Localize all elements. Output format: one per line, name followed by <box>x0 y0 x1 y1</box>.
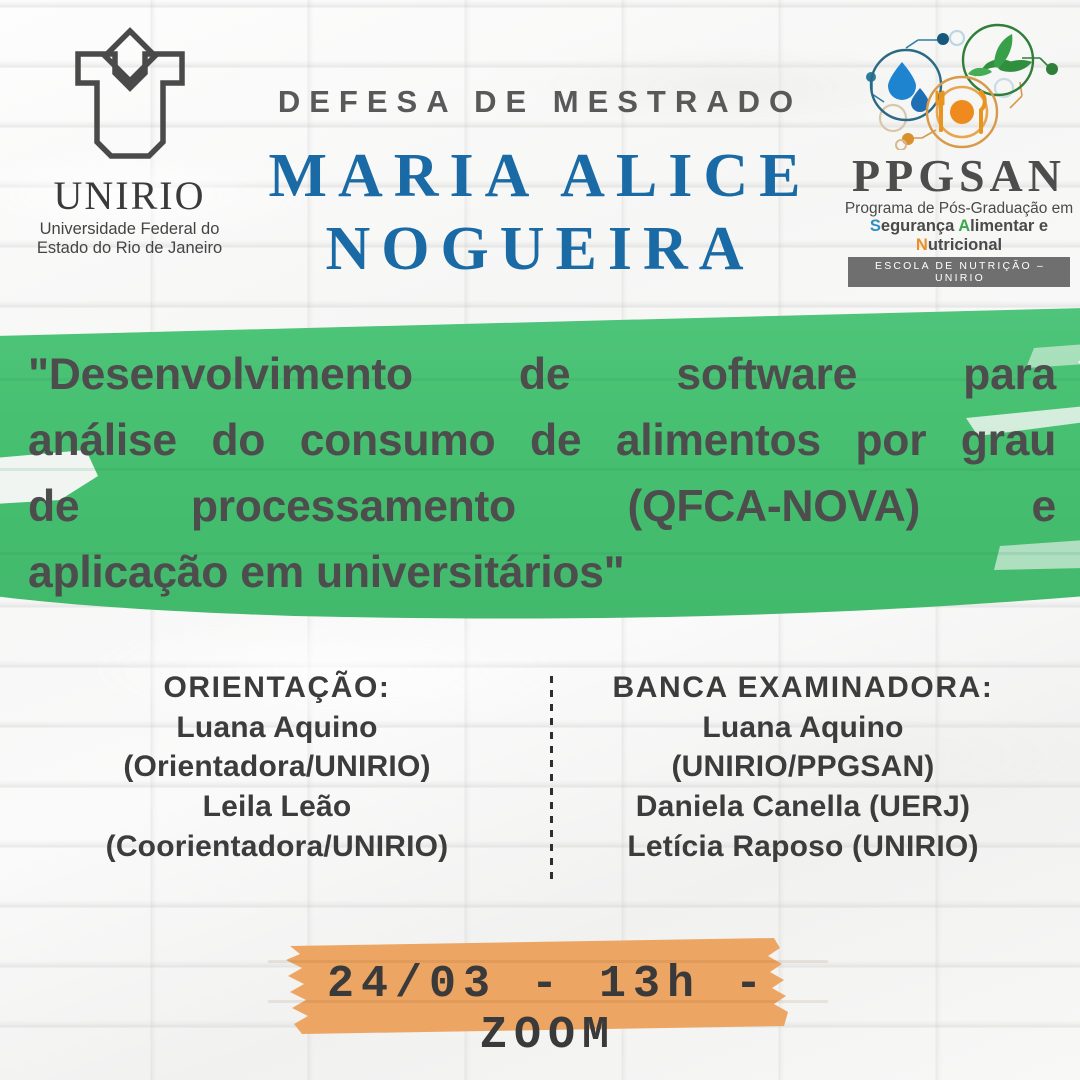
orientacao-entry-1: (Orientadora/UNIRIO) <box>22 747 532 787</box>
banca-heading: BANCA EXAMINADORA: <box>548 668 1058 708</box>
student-name-line2: NOGUEIRA <box>160 213 920 286</box>
banca-entry-0: Luana Aquino <box>548 708 1058 748</box>
student-name: MARIA ALICE NOGUEIRA <box>160 140 920 286</box>
student-name-line1: MARIA ALICE <box>160 140 920 213</box>
orientacao-heading: ORIENTAÇÃO: <box>22 668 532 708</box>
banca-entry-1: (UNIRIO/PPGSAN) <box>548 747 1058 787</box>
thesis-title-line4: aplicação em universitários" <box>28 540 1056 606</box>
thesis-title: "Desenvolvimento de software para anális… <box>28 342 1056 605</box>
banca-entry-2: Daniela Canella (UERJ) <box>548 787 1058 827</box>
people-columns: ORIENTAÇÃO: Luana Aquino (Orientadora/UN… <box>0 668 1080 908</box>
thesis-title-line1: "Desenvolvimento de software para <box>28 342 1056 408</box>
orientacao-column: ORIENTAÇÃO: Luana Aquino (Orientadora/UN… <box>22 668 532 867</box>
schedule-banner: 24/03 - 13h - ZOOM <box>268 930 828 1042</box>
thesis-title-banner: "Desenvolvimento de software para anális… <box>0 300 1080 630</box>
thesis-title-line3: de processamento (QFCA-NOVA) e <box>28 474 1056 540</box>
schedule-text: 24/03 - 13h - ZOOM <box>268 959 828 1061</box>
defense-announcement-poster: UNIRIO Universidade Federal do Estado do… <box>0 0 1080 1080</box>
orientacao-entry-0: Luana Aquino <box>22 708 532 748</box>
banca-entry-3: Letícia Raposo (UNIRIO) <box>548 827 1058 867</box>
event-type-label: DEFESA DE MESTRADO <box>0 84 1080 120</box>
banca-column: BANCA EXAMINADORA: Luana Aquino (UNIRIO/… <box>548 668 1058 867</box>
column-dotted-divider <box>550 676 553 882</box>
orientacao-entry-3: (Coorientadora/UNIRIO) <box>22 827 532 867</box>
orientacao-entry-2: Leila Leão <box>22 787 532 827</box>
thesis-title-line2: análise do consumo de alimentos por grau <box>28 408 1056 474</box>
